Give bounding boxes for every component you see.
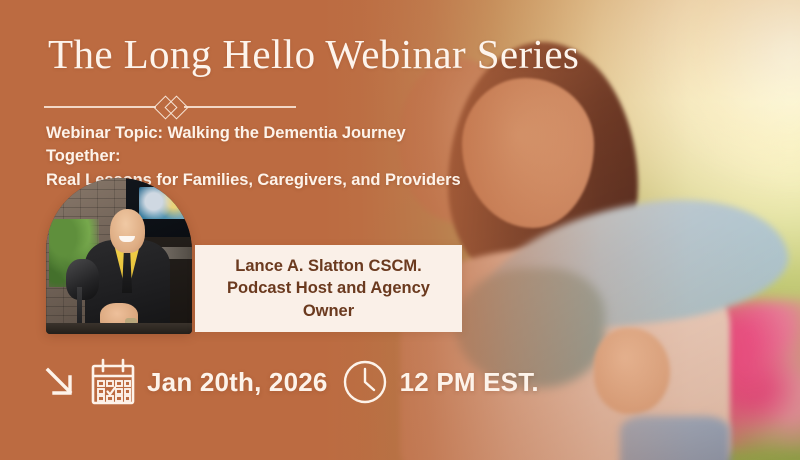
photo-monitor-image: [139, 187, 187, 218]
webinar-date: Jan 20th, 2026: [147, 369, 328, 395]
photo-microphone: [66, 259, 98, 300]
page-title: The Long Hello Webinar Series: [48, 34, 579, 75]
schedule-row: Jan 20th, 2026 12 PM EST.: [40, 358, 539, 406]
speaker-name-text: Lance A. Slatton CSCM. Podcast Host and …: [213, 255, 444, 321]
divider-line-right: [184, 106, 296, 108]
speaker-name-line-3: Owner: [227, 300, 430, 322]
speaker-name-line-2: Podcast Host and Agency: [227, 277, 430, 299]
photo-microphone-stand: [77, 287, 83, 328]
photo-table: [46, 323, 192, 334]
speaker-photo: [46, 178, 192, 334]
photo-speaker-head: [110, 209, 145, 253]
clock-icon: [342, 359, 388, 405]
speaker-name-plate: Lance A. Slatton CSCM. Podcast Host and …: [195, 245, 462, 332]
webinar-promo-poster: The Long Hello Webinar Series Webinar To…: [0, 0, 800, 460]
webinar-topic-line-1: Webinar Topic: Walking the Dementia Jour…: [46, 122, 476, 169]
speaker-name-line-1: Lance A. Slatton CSCM.: [227, 255, 430, 277]
calendar-check-icon: [90, 358, 136, 406]
arrow-down-right-icon: [40, 362, 80, 402]
webinar-time: 12 PM EST.: [400, 369, 539, 395]
divider-line-left: [44, 106, 156, 108]
double-diamond-ornament: [44, 95, 296, 117]
